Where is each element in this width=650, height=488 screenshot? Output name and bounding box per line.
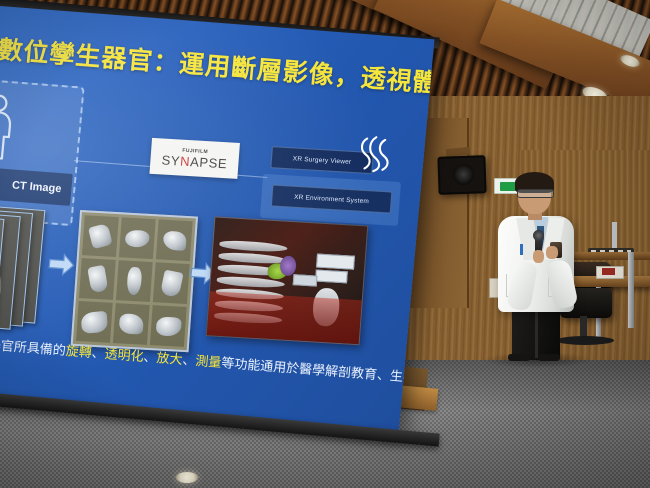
- microphone-head: [533, 230, 544, 241]
- organ-cell: [113, 303, 150, 345]
- xr-ui-panel: [293, 274, 318, 286]
- ct-slice-stack: [0, 196, 56, 337]
- synapse-post: APSE: [190, 154, 228, 171]
- flow-connector: [74, 160, 152, 167]
- caption-hl-transparency: 透明化: [104, 346, 144, 364]
- organ-cell: [153, 262, 190, 304]
- synapse-wordmark: SYNAPSE: [161, 152, 228, 171]
- desk-equipment-label: [602, 268, 615, 275]
- right-arrow-icon: [47, 251, 75, 279]
- organ-cell: [156, 219, 193, 261]
- caption-hl-measure: 測量: [195, 353, 222, 370]
- presentation-room-photo: 建構數位孿生器官：運用斷層影像，透視體內器官及病灶: [0, 0, 650, 488]
- swirl-logo-icon: [350, 130, 400, 179]
- ct-source-panel: CT Image: [0, 72, 85, 226]
- presenter-shoe: [538, 354, 560, 361]
- presenter-hand-left: [533, 250, 544, 263]
- fujifilm-synapse-logo: FUJIFILM SYNAPSE: [149, 138, 240, 179]
- desk-leg: [628, 252, 634, 328]
- organ-highlight-purple: [279, 255, 296, 276]
- xr-ui-panel: [316, 254, 355, 270]
- trouser-seam: [535, 312, 538, 358]
- segmented-organ-grid: [71, 210, 198, 352]
- presenter-arm-right: [545, 258, 578, 310]
- presenter-arm-left: [506, 260, 538, 311]
- pocket-pen: [520, 244, 523, 255]
- ct-image-label: CT Image: [11, 179, 61, 195]
- floor-light-reflection: [176, 472, 198, 483]
- synapse-pre: SY: [161, 152, 181, 168]
- eyeglasses: [517, 189, 554, 198]
- human-body-icon: [0, 93, 20, 162]
- xr-anatomy-render: [206, 216, 369, 345]
- presenter-shoe: [508, 354, 530, 361]
- caption-hl-rotate: 旋轉: [65, 343, 92, 360]
- ct-image-box: CT Image: [0, 161, 73, 206]
- xr-ui-panel: [315, 270, 348, 284]
- lab-coat: [498, 216, 574, 312]
- organ-cell: [150, 305, 187, 347]
- presenter: [492, 176, 584, 360]
- organ-cell: [116, 260, 153, 302]
- organ-cell: [79, 258, 116, 300]
- organ-cell: [76, 301, 113, 343]
- wall-speaker: [437, 155, 486, 195]
- flow-arrow-1: [47, 251, 75, 279]
- render-glow: [207, 291, 362, 344]
- caption-hl-zoom: 放大: [156, 350, 183, 367]
- projection-screen[interactable]: 建構數位孿生器官：運用斷層影像，透視體內器官及病灶: [0, 0, 434, 430]
- organ-cell: [82, 215, 119, 257]
- presenter-hand-right: [546, 246, 558, 259]
- organ-cell: [119, 217, 156, 259]
